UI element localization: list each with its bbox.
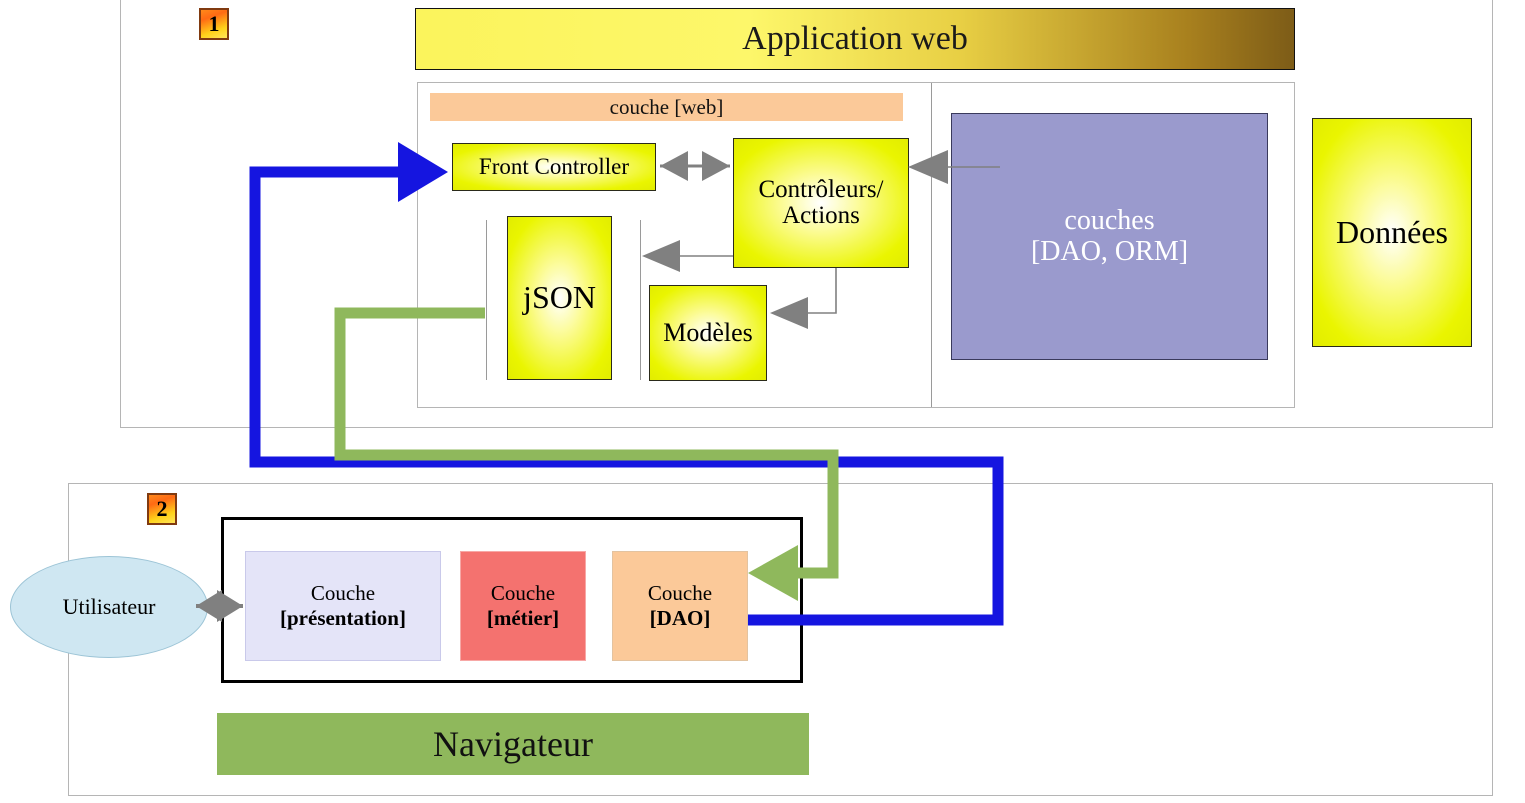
panel-divider	[931, 83, 932, 407]
json-box[interactable]: jSON	[507, 216, 612, 380]
couche-presentation-box[interactable]: Couche [présentation]	[245, 551, 441, 661]
front-controller-box[interactable]: Front Controller	[452, 143, 656, 191]
controllers-actions-line2: Actions	[782, 203, 860, 229]
couche-metier-line1: Couche	[491, 581, 555, 606]
controllers-actions-box[interactable]: Contrôleurs/ Actions	[733, 138, 909, 268]
json-right-guide	[640, 220, 641, 380]
couches-dao-orm-box[interactable]: couches [DAO, ORM]	[951, 113, 1268, 360]
dao-orm-line2: [DAO, ORM]	[1031, 237, 1188, 268]
section-badge-1: 1	[199, 8, 229, 40]
couche-presentation-line2: [présentation]	[280, 606, 406, 631]
couche-metier-line2: [métier]	[487, 606, 559, 631]
diagram-canvas: 1 Application web couche [web] Front Con…	[0, 0, 1525, 803]
donnees-box[interactable]: Données	[1312, 118, 1472, 347]
couche-dao-box[interactable]: Couche [DAO]	[612, 551, 748, 661]
utilisateur-actor[interactable]: Utilisateur	[10, 556, 208, 658]
section-badge-2: 2	[147, 493, 177, 525]
controllers-actions-line1: Contrôleurs/	[759, 177, 884, 203]
application-web-banner: Application web	[415, 8, 1295, 70]
couche-web-label: couche [web]	[430, 93, 903, 121]
dao-orm-line1: couches	[1064, 206, 1154, 237]
navigateur-bar: Navigateur	[217, 713, 809, 775]
couche-dao-line1: Couche	[648, 581, 712, 606]
modeles-box[interactable]: Modèles	[649, 285, 767, 381]
couche-metier-box[interactable]: Couche [métier]	[460, 551, 586, 661]
couche-presentation-line1: Couche	[311, 581, 375, 606]
json-left-guide	[486, 220, 487, 380]
couche-dao-line2: [DAO]	[650, 606, 711, 631]
